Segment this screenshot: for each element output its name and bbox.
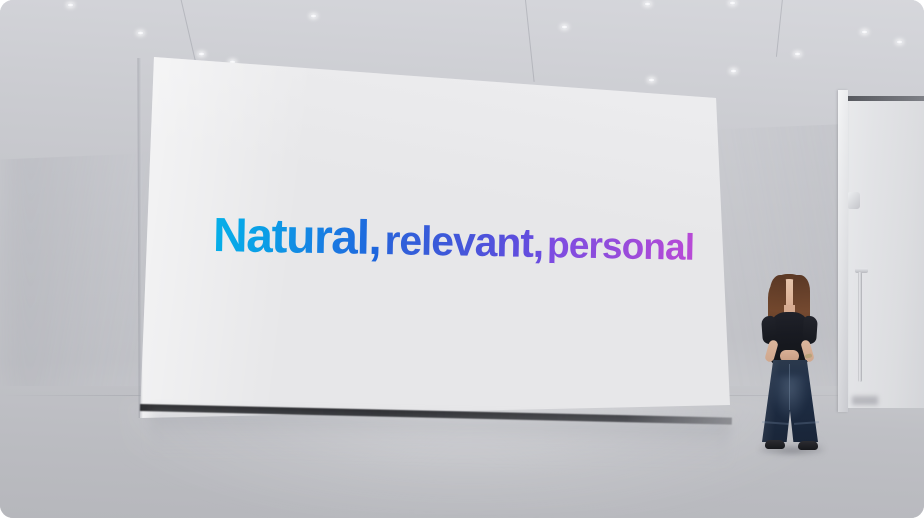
- ceiling-spotlight: [137, 31, 144, 35]
- presenter-shoe-right: [798, 441, 818, 450]
- ceiling-spotlight: [648, 78, 655, 82]
- ceiling-spotlight: [729, 1, 736, 5]
- floor-reflection: [120, 398, 820, 518]
- alcove-floor-shadow: [852, 396, 878, 405]
- alcove-latch: [848, 192, 860, 209]
- ceiling-spotlight: [896, 40, 903, 44]
- ceiling-spotlight: [561, 25, 568, 29]
- doorway-alcove: [845, 96, 924, 408]
- ceiling-spotlight: [730, 69, 737, 73]
- presenter-shoe-left: [765, 440, 785, 449]
- alcove-door-handle: [858, 272, 862, 382]
- ceiling-spotlight: [861, 30, 868, 34]
- ceiling-spotlight: [198, 52, 205, 56]
- ceiling-spotlight: [794, 52, 801, 56]
- alcove-door-jamb: [838, 90, 848, 412]
- alcove-top-trim: [845, 96, 924, 101]
- ceiling-spotlight: [229, 60, 236, 64]
- ceiling-spotlight: [644, 2, 651, 6]
- ceiling-spotlight: [310, 14, 317, 18]
- ceiling-spotlight: [67, 3, 74, 7]
- presenter-jeans-seam: [789, 364, 790, 410]
- presenter: [742, 272, 838, 454]
- keynote-stage-screenshot: Natural,relevant,personal: [0, 0, 924, 518]
